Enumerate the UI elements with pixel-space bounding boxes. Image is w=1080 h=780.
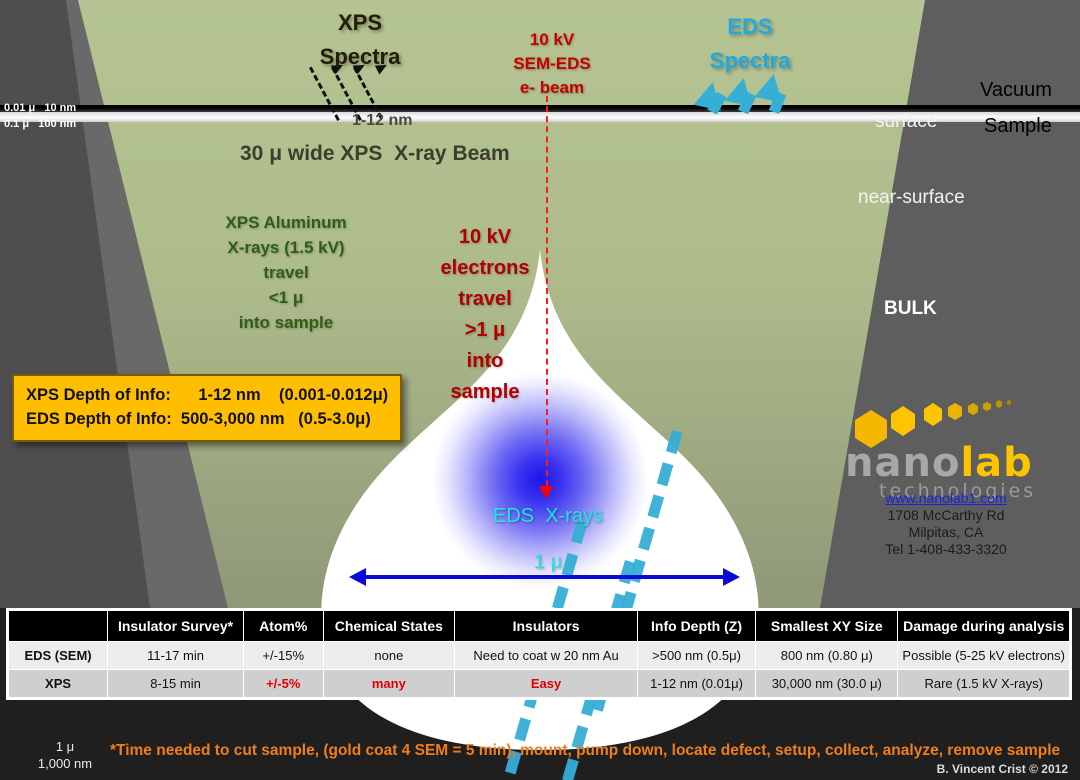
xray-beam-width-label: 30 μ wide XPS X-ray Beam [240, 142, 510, 166]
row-eds-survey: 11-17 min [108, 642, 244, 670]
company-contact-block: www.nanolab1.com 1708 McCarthy Rd Milpit… [838, 490, 1054, 558]
eds-depth-line: EDS Depth of Info: 500-3,000 nm (0.5-3.0… [26, 407, 388, 431]
row-eds-chem: none [323, 642, 455, 670]
row-xps-survey: 8-15 min [108, 670, 244, 698]
depth-scale-label: 0.01 μ 10 nm0.1 μ 100 nm [4, 100, 76, 132]
volume-width-arrow [363, 575, 723, 579]
row-xps-insulators: Easy [455, 670, 638, 698]
row-eds-xy: 800 nm (0.80 μ) [756, 642, 898, 670]
eds-spectra-label: EDSSpectra [690, 10, 810, 78]
xps-travel-label: XPS AluminumX-rays (1.5 kV)travel<1 μint… [186, 210, 386, 335]
row-xps-chem: many [323, 670, 455, 698]
th-technique [9, 611, 108, 642]
company-website-link[interactable]: www.nanolab1.com [885, 490, 1006, 506]
row-xps-atom: +/-5% [243, 670, 323, 698]
bulk-label: BULK [884, 298, 937, 320]
row-xps-damage: Rare (1.5 kV X-rays) [898, 670, 1070, 698]
th-insulator-survey: Insulator Survey* [108, 611, 244, 642]
row-xps-xy: 30,000 nm (30.0 μ) [756, 670, 898, 698]
table-row: XPS 8-15 min +/-5% many Easy 1-12 nm (0.… [9, 670, 1070, 698]
near-surface-label: near-surface [858, 187, 965, 209]
surface-thickness-label: 1-12 nm [352, 112, 412, 130]
th-info-depth: Info Depth (Z) [637, 611, 755, 642]
eds-arrow-head-2 [725, 75, 758, 106]
surface-label: surface [875, 111, 937, 133]
electron-beam-arrowhead [539, 486, 553, 499]
company-tel: Tel 1-408-433-3320 [885, 541, 1006, 557]
vacuum-label: Vacuum [980, 79, 1052, 102]
table-header-row: Insulator Survey* Atom% Chemical States … [9, 611, 1070, 642]
comparison-table: Insulator Survey* Atom% Chemical States … [8, 610, 1070, 698]
table-row: EDS (SEM) 11-17 min +/-15% none Need to … [9, 642, 1070, 670]
th-chemical-states: Chemical States [323, 611, 455, 642]
th-insulators: Insulators [455, 611, 638, 642]
volume-width-label: 1 μ [430, 551, 666, 574]
copyright-text: B. Vincent Crist © 2012 [937, 762, 1068, 776]
electron-beam-label: 10 kVSEM-EDSe- beam [492, 28, 612, 100]
company-city: Milpitas, CA [909, 524, 984, 540]
bottom-left-scale-label: 1 μ1,000 nm [10, 738, 120, 772]
sample-label: Sample [984, 115, 1052, 138]
footnote-text: *Time needed to cut sample, (gold coat 4… [110, 742, 1070, 760]
xps-spectra-label: XPSSpectra [300, 6, 420, 74]
row-eds-damage: Possible (5-25 kV electrons) [898, 642, 1070, 670]
th-smallest-xy: Smallest XY Size [756, 611, 898, 642]
volume-width-arrow-left-head [349, 568, 366, 586]
depth-of-info-box: XPS Depth of Info: 1-12 nm (0.001-0.012μ… [12, 374, 402, 442]
row-eds-insulators: Need to coat w 20 nm Au [455, 642, 638, 670]
th-damage: Damage during analysis [898, 611, 1070, 642]
row-eds-technique: EDS (SEM) [9, 642, 108, 670]
nanolab-logo: nanolab technologies [845, 392, 1045, 492]
eds-xrays-label: EDS X-rays [430, 505, 666, 528]
volume-width-arrow-right-head [723, 568, 740, 586]
row-eds-atom: +/-15% [243, 642, 323, 670]
row-eds-depth: >500 nm (0.5μ) [637, 642, 755, 670]
diagram-canvas: XPSSpectra 10 kVSEM-EDSe- beam EDSSpectr… [0, 0, 1080, 780]
company-street: 1708 McCarthy Rd [888, 507, 1005, 523]
eds-arrow-head-1 [694, 79, 727, 110]
th-atom-percent: Atom% [243, 611, 323, 642]
electron-beam-line [546, 96, 548, 496]
row-xps-technique: XPS [9, 670, 108, 698]
xps-depth-line: XPS Depth of Info: 1-12 nm (0.001-0.012μ… [26, 383, 388, 407]
electron-travel-label: 10 kVelectronstravel>1 μintosample [425, 222, 545, 408]
row-xps-depth: 1-12 nm (0.01μ) [637, 670, 755, 698]
